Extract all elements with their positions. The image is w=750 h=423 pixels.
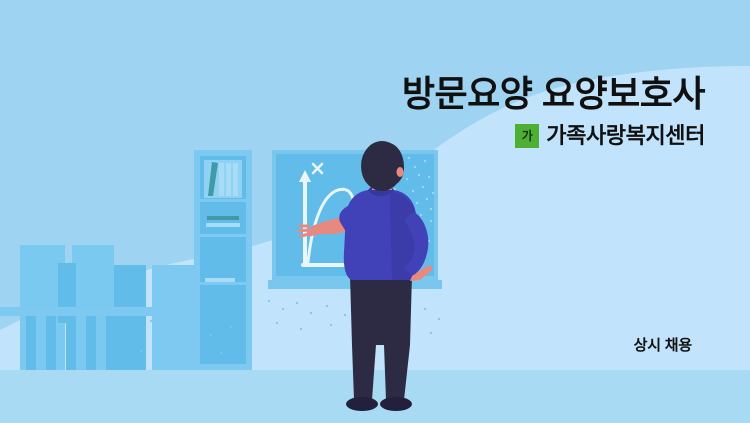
company-row: 가 가족사랑복지센터 — [515, 124, 705, 148]
office-furniture-silhouette — [0, 245, 227, 370]
floor-group — [0, 370, 750, 423]
bookshelf — [194, 150, 252, 370]
page-title: 방문요양 요양보호사 — [402, 76, 705, 112]
illustration-scene — [0, 0, 750, 423]
company-badge-icon: 가 — [515, 124, 539, 148]
status-badge: 상시 채용 — [634, 338, 692, 353]
company-name: 가족사랑복지센터 — [546, 125, 705, 147]
recruitment-banner: 방문요양 요양보호사 가 가족사랑복지센터 상시 채용 — [0, 0, 750, 423]
